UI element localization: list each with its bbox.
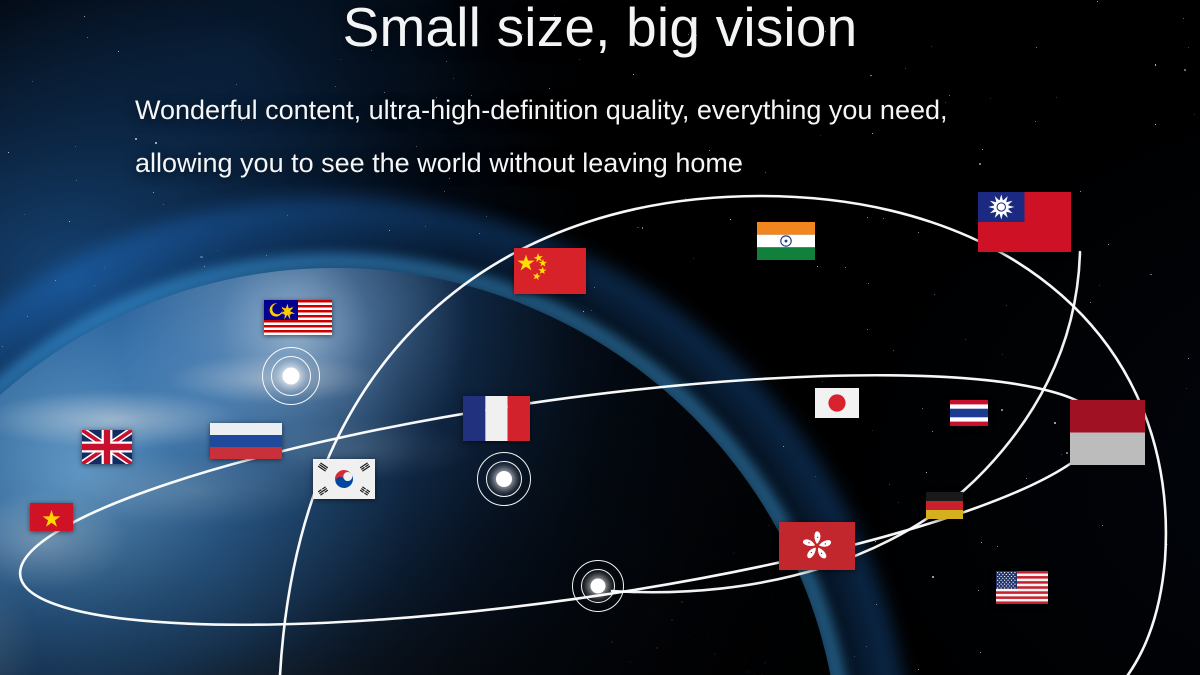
hero-banner: Small size, big vision Wonderful content… — [0, 0, 1200, 675]
earth-surface — [0, 268, 840, 675]
flag-south-korea[interactable] — [313, 459, 375, 499]
page-title: Small size, big vision — [0, 0, 1200, 57]
flag-united-kingdom[interactable] — [82, 430, 132, 464]
subtitle-line-2: allowing you to see the world without le… — [135, 137, 948, 190]
flag-taiwan[interactable] — [978, 192, 1071, 252]
flag-malaysia[interactable] — [264, 300, 332, 335]
flag-vietnam[interactable] — [30, 503, 73, 531]
flag-france[interactable] — [463, 396, 530, 441]
flag-hong-kong[interactable] — [779, 522, 855, 570]
node-core — [283, 368, 300, 385]
node-core — [591, 579, 606, 594]
flag-india[interactable] — [757, 222, 815, 260]
flag-germany[interactable] — [926, 492, 963, 519]
earth-globe — [0, 268, 840, 675]
flag-thailand[interactable] — [950, 400, 988, 426]
subtitle-line-1: Wonderful content, ultra-high-definition… — [135, 84, 948, 137]
flag-indonesia[interactable] — [1070, 400, 1145, 465]
flag-china[interactable] — [514, 248, 586, 294]
flag-japan[interactable] — [815, 388, 859, 418]
flag-united-states[interactable] — [996, 571, 1048, 604]
node-core — [496, 471, 512, 487]
page-subtitle: Wonderful content, ultra-high-definition… — [135, 84, 948, 190]
earth-shadow — [0, 268, 840, 675]
flag-russia[interactable] — [210, 423, 282, 459]
